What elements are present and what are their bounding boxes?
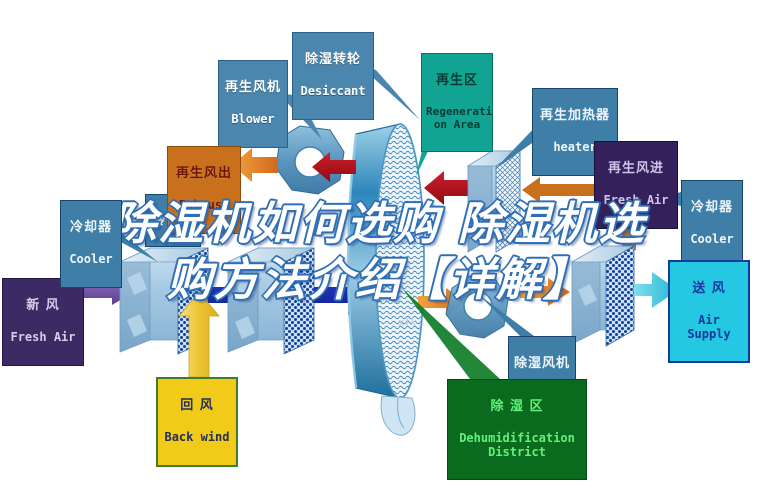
label-exhaust: 再生风出 Exhaust: [167, 146, 241, 234]
label-regeneration-area: 再生区 Regenerati on Area: [421, 53, 493, 152]
label-desiccant-wheel: 除湿转轮 Desiccant: [292, 32, 374, 120]
label-back-wind: 回 风 Back wind: [156, 377, 238, 467]
label-cooler-right: 冷却器 Cooler: [681, 180, 743, 268]
cooler-coil-right: [572, 246, 634, 346]
label-dehumidification-district: 除 湿 区 Dehumidification District: [447, 379, 587, 480]
label-regeneration-fresh-air-in: 再生风进 Fresh Air: [594, 141, 678, 229]
label-fresh-air-in: 新 风 Fresh Air: [2, 278, 84, 366]
watermark-text: xfk: [398, 316, 418, 329]
heater-coil: [468, 151, 520, 252]
dehumidification-blower-body: [446, 276, 508, 338]
cooler-coil-mid: [228, 248, 314, 354]
diagram-canvas: 再生风机 Blower 除湿转轮 Desiccant 再生区 Regenerat…: [0, 0, 757, 488]
desiccant-rotor: [348, 124, 424, 435]
label-air-supply: 送 风 Air Supply: [668, 260, 750, 363]
dry-air-arrow-2: [520, 278, 570, 306]
label-cooler-left: 冷却器 Cooler: [60, 200, 122, 288]
label-regeneration-blower: 再生风机 Blower: [218, 60, 288, 148]
